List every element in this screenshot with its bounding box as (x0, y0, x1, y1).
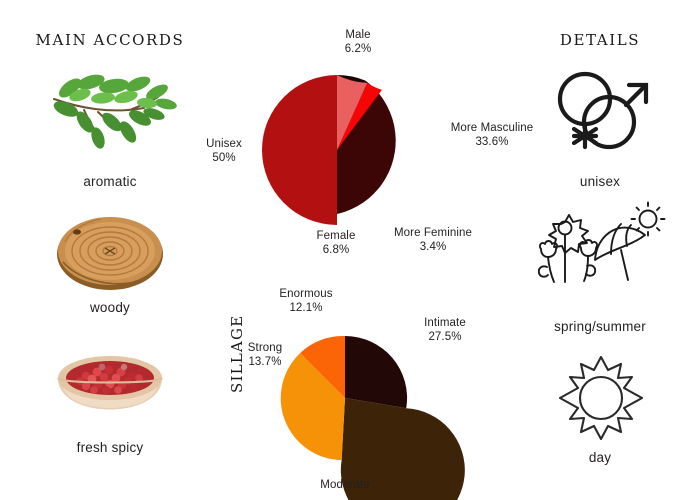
details-heading: DETAILS (512, 31, 688, 49)
pie-label-male: Male 6.2% (308, 28, 408, 56)
detail-icon-spring-summer (535, 202, 667, 290)
accord-image-aromatic (40, 62, 180, 157)
pie-label-more-feminine-name: More Feminine (394, 227, 472, 239)
accord-label-fresh-spicy: fresh spicy (20, 440, 200, 455)
pie-label-more-masculine: More Masculine 33.6% (432, 121, 552, 149)
detail-icon-unisex (547, 67, 653, 159)
gender-pie-chart (262, 75, 412, 225)
accord-label-woody: woody (20, 300, 200, 315)
infographic-canvas: MAIN ACCORDS (0, 0, 700, 500)
pie-label-enormous-name: Enormous (279, 288, 332, 300)
pie-label-moderate: Moderate (305, 478, 385, 492)
pie-label-strong-name: Strong (248, 342, 282, 354)
pie-label-moderate-name: Moderate (320, 479, 369, 491)
pie-label-female-name: Female (317, 230, 356, 242)
pie-label-more-masculine-pct: 33.6% (432, 135, 552, 149)
pie-label-female-pct: 6.8% (300, 243, 372, 257)
accord-label-aromatic: aromatic (20, 174, 200, 189)
pie-label-female: Female 6.8% (300, 229, 372, 257)
pie-label-male-name: Male (345, 29, 370, 41)
pie-slice-intimate (345, 336, 407, 408)
pie-label-enormous-pct: 12.1% (258, 301, 354, 315)
main-accords-heading: MAIN ACCORDS (20, 31, 200, 49)
pie-label-more-feminine: More Feminine 3.4% (381, 226, 485, 254)
sillage-pie-chart (283, 336, 407, 460)
pie-label-unisex-pct: 50% (188, 151, 260, 165)
pie-label-intimate-name: Intimate (424, 317, 466, 329)
detail-label-spring-summer: spring/summer (512, 319, 688, 334)
pie-label-more-masculine-name: More Masculine (451, 122, 534, 134)
detail-label-day: day (512, 450, 688, 465)
detail-label-unisex: unisex (512, 174, 688, 189)
pie-label-intimate-pct: 27.5% (405, 330, 485, 344)
pie-label-strong: Strong 13.7% (232, 341, 298, 369)
accord-image-woody (55, 212, 165, 292)
detail-icon-day (558, 355, 644, 441)
pie-slice-unisex (262, 75, 337, 225)
pie-label-unisex-name: Unisex (206, 138, 242, 150)
pie-label-intimate: Intimate 27.5% (405, 316, 485, 344)
pie-label-more-feminine-pct: 3.4% (381, 240, 485, 254)
pie-label-male-pct: 6.2% (308, 42, 408, 56)
pie-label-unisex: Unisex 50% (188, 137, 260, 165)
pie-label-strong-pct: 13.7% (232, 355, 298, 369)
pie-label-enormous: Enormous 12.1% (258, 287, 354, 315)
accord-image-fresh-spicy (52, 344, 168, 436)
